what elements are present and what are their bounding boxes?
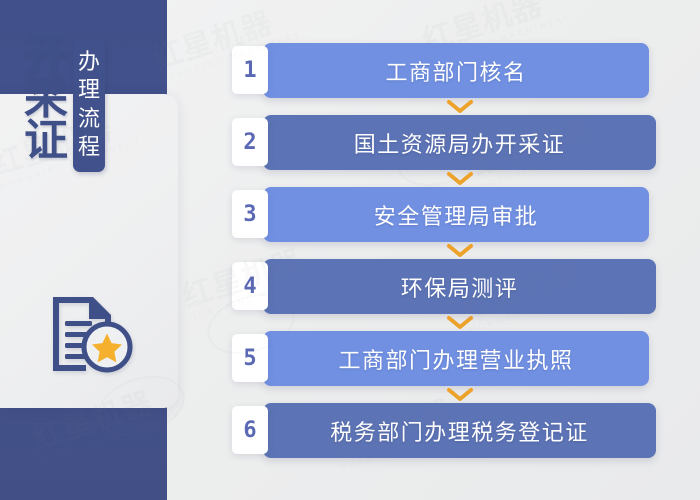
step-label: 工商部门核名 [385, 55, 526, 87]
process-step-row[interactable]: 环保局测评4 [232, 259, 662, 314]
subtitle-char-4: 程 [78, 133, 100, 161]
title-char-3: 证 [24, 120, 69, 163]
step-number: 2 [243, 130, 256, 155]
chevron-down-icon [263, 170, 656, 187]
chevron-down-icon [263, 314, 656, 331]
chevron-down-icon [263, 98, 656, 115]
step-number-badge[interactable]: 3 [232, 190, 268, 238]
step-bar[interactable]: 工商部门核名 [263, 43, 649, 98]
process-step-row[interactable]: 安全管理局审批3 [232, 187, 662, 242]
infographic-canvas: 红星机器HONGXING MACHINERY 红星机器HONGXING MACH… [0, 0, 700, 500]
step-bar[interactable]: 税务部门办理税务登记证 [263, 403, 656, 458]
step-number: 1 [243, 58, 256, 83]
process-step-row[interactable]: 国土资源局办开采证2 [232, 115, 662, 170]
step-number: 4 [243, 274, 256, 299]
process-flow-list: 工商部门核名1国土资源局办开采证2安全管理局审批3环保局测评4工商部门办理营业执… [232, 43, 662, 458]
process-step-row[interactable]: 税务部门办理税务登记证6 [232, 403, 662, 458]
title-subtitle-badge: 办 理 流 程 [73, 39, 105, 172]
step-label: 税务部门办理税务登记证 [330, 415, 589, 447]
chevron-down-icon [263, 386, 656, 403]
title-char-1: 开 [24, 35, 69, 78]
step-label: 国土资源局办开采证 [354, 127, 566, 159]
page-title: 开 采 证 [24, 35, 69, 163]
step-number: 5 [243, 346, 256, 371]
step-number-badge[interactable]: 6 [232, 406, 268, 454]
subtitle-char-1: 办 [78, 48, 100, 76]
step-number: 6 [243, 418, 256, 443]
subtitle-char-2: 理 [78, 76, 100, 104]
title-block: 开 采 证 办 理 流 程 [24, 35, 105, 172]
step-bar[interactable]: 安全管理局审批 [263, 187, 649, 242]
step-label: 环保局测评 [401, 271, 519, 303]
step-number: 3 [243, 202, 256, 227]
process-step-row[interactable]: 工商部门办理营业执照5 [232, 331, 662, 386]
step-number-badge[interactable]: 5 [232, 334, 268, 382]
step-bar[interactable]: 工商部门办理营业执照 [263, 331, 649, 386]
chevron-down-icon [263, 242, 656, 259]
step-label: 工商部门办理营业执照 [338, 343, 573, 375]
step-bar[interactable]: 环保局测评 [263, 259, 656, 314]
process-step-row[interactable]: 工商部门核名1 [232, 43, 662, 98]
document-star-icon [48, 293, 134, 380]
subtitle-char-3: 流 [78, 105, 100, 133]
step-label: 安全管理局审批 [374, 199, 539, 231]
step-number-badge[interactable]: 2 [232, 118, 268, 166]
step-bar[interactable]: 国土资源局办开采证 [263, 115, 656, 170]
step-number-badge[interactable]: 4 [232, 262, 268, 310]
title-char-2: 采 [24, 78, 69, 121]
step-number-badge[interactable]: 1 [232, 46, 268, 94]
